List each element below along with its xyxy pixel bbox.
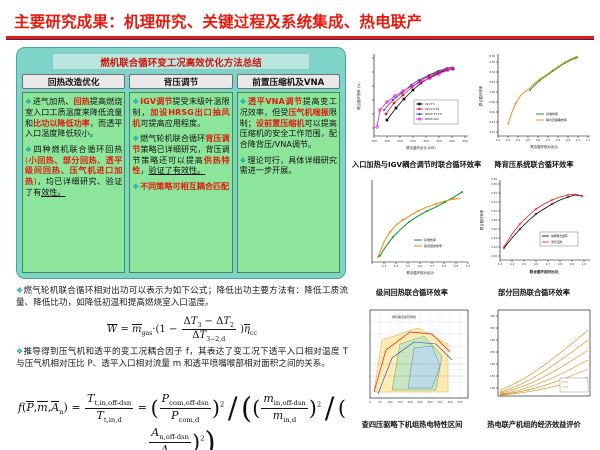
svg-text:250: 250	[410, 139, 416, 143]
diamond-bullet-icon: ❖	[240, 156, 247, 165]
column-header-label: 回热改造优化	[48, 76, 100, 88]
diamond-bullet-icon: ❖	[25, 97, 32, 106]
chart-svg: 0.30.40.5 0.60.70.8 0.91.0 0.400.420.44 …	[474, 174, 594, 286]
bullet-item: ❖透平VNA调节提高变工况效率，但受压气机喘振限制；设前置压缩机可以提高压缩机的…	[240, 96, 337, 150]
column-backpressure-header: 背压调节	[129, 74, 232, 89]
svg-text:0.48: 0.48	[489, 100, 495, 104]
svg-text:100: 100	[388, 400, 393, 404]
svg-text:100: 100	[371, 139, 377, 143]
svg-text:0.52: 0.52	[489, 80, 495, 84]
svg-text:1.0: 1.0	[466, 264, 471, 268]
svg-text:0.8: 0.8	[442, 264, 447, 268]
summary-panel-header: 燃机联合循环变工况高效优化方法总结	[52, 53, 310, 70]
svg-text:0.7: 0.7	[546, 138, 551, 142]
svg-text:1.0: 1.0	[582, 262, 587, 266]
svg-text:200: 200	[490, 362, 495, 366]
svg-text:0.46: 0.46	[489, 110, 495, 114]
svg-text:0.3: 0.3	[382, 264, 387, 268]
svg-text:0.3: 0.3	[498, 262, 503, 266]
svg-text:0.9: 0.9	[566, 138, 571, 142]
formula-coupling-factor: f(P,m,An) = Tt,in,off-dsnTt,in,d = (Pcom…	[16, 391, 348, 450]
svg-text:250: 250	[418, 400, 423, 404]
svg-text:300: 300	[490, 338, 495, 342]
bullet-item: ❖燃气轮机联合循环背压调节策略已详细研究，背压调节策略还可以提高供热特性，验证了…	[132, 133, 229, 176]
svg-text:HEAT-IGV: HEAT-IGV	[425, 117, 440, 121]
svg-text:HEAT-T3-T4: HEAT-T3-T4	[425, 112, 442, 116]
diamond-bullet-icon: ❖	[132, 134, 139, 143]
svg-text:0.9: 0.9	[454, 264, 459, 268]
chart-caption: 级间回热联合循环效率	[352, 288, 472, 298]
column-precompressor-vna-header: 前置压缩机及VNA	[237, 74, 340, 89]
svg-text:基准效率: 基准效率	[546, 111, 558, 116]
svg-text:IGV-T3: IGV-T3	[425, 102, 435, 106]
chart-backpressure-efficiency: 0.20.30.4 0.50.60.7 0.80.91.0 1.1 0.420.…	[474, 48, 594, 170]
svg-text:0.2: 0.2	[496, 138, 501, 142]
svg-text:联合循环相对出功: 联合循环相对出功	[530, 144, 558, 149]
chart-legend: 基准效率 级间回热效率	[414, 237, 442, 248]
svg-text:300: 300	[428, 400, 433, 404]
svg-text:0.6: 0.6	[534, 262, 539, 266]
svg-text:0.52: 0.52	[491, 200, 497, 204]
chart-legend: 常规联合循环 部分回热	[540, 232, 578, 246]
svg-text:级间回热效率: 级间回热效率	[424, 243, 442, 248]
column-backpressure-body: ❖IGV调节提受末级叶温限制，加设HRSG出口抽风机可提高应用程度。 ❖燃气轮机…	[129, 92, 232, 273]
chart-caption: 部分回热联合循环效率	[474, 288, 594, 298]
chart-legend	[560, 378, 588, 392]
svg-text:0.8: 0.8	[558, 262, 563, 266]
svg-text:200: 200	[397, 139, 403, 143]
svg-text:0.8: 0.8	[556, 138, 561, 142]
svg-text:200: 200	[408, 400, 413, 404]
svg-text:350: 350	[438, 400, 443, 404]
title-divider-secondary	[6, 39, 594, 40]
svg-text:燃机联合循环供热: 燃机联合循环供热	[392, 314, 416, 319]
svg-text:联合循环相对出功: 联合循环相对出功	[406, 270, 434, 275]
diamond-bullet-icon: ❖	[132, 182, 139, 191]
svg-text:0.56: 0.56	[489, 60, 495, 64]
svg-text:0.44: 0.44	[491, 236, 497, 240]
svg-text:0.56: 0.56	[491, 182, 497, 186]
column-recuperation-header: 回热改造优化	[22, 74, 125, 89]
svg-text:1.1: 1.1	[586, 138, 591, 142]
diamond-bullet-icon: ❖	[132, 97, 139, 106]
bullet-item: ❖进气加热、回热提高燃烧室入口工质温度来降低流量和比功以降低功率，而透平入口温度…	[25, 96, 122, 139]
column-recuperation-body: ❖进气加热、回热提高燃烧室入口工质温度来降低流量和比功以降低功率，而透平入口温度…	[22, 92, 125, 273]
svg-text:250: 250	[490, 350, 495, 354]
svg-text:联合循环出功 (kW): 联合循环出功 (kW)	[406, 145, 436, 150]
chart-svg: 0.20.30.4 0.50.60.7 0.80.91.0 1.1 0.420.…	[474, 48, 594, 158]
svg-text:0.54: 0.54	[491, 191, 497, 195]
svg-text:0.3: 0.3	[506, 138, 511, 142]
paragraph-power-output: ❖燃气轮机联合循环相对出功可以表示为如下公式；降低出功主要方法有：降低工质流量、…	[16, 285, 348, 310]
chart-economic-evaluation: 100150200 250300350 400	[474, 304, 594, 430]
paragraph-coupling-factor: ❖推导得到压气机和透平的变工况耦合因子 f，其表达了变工况下透平入口相对温度 T…	[16, 346, 348, 371]
svg-text:0.7: 0.7	[430, 264, 435, 268]
chart-caption: 热电联产机组的经济效益评价	[474, 420, 594, 430]
svg-text:0.9: 0.9	[570, 262, 575, 266]
chart-partial-recuperation: 0.30.40.5 0.60.70.8 0.91.0 0.400.420.44 …	[474, 174, 594, 298]
svg-text:0: 0	[369, 400, 371, 404]
chart-legend: IGV-T3 IGV-T3-T4 HEAT-T3-T4 HEAT-IGV	[414, 100, 458, 124]
bullet-item: ❖理论可行，具体详细研究需进一步开展。	[240, 155, 337, 177]
svg-text:0.58: 0.58	[489, 54, 495, 58]
svg-text:1.0: 1.0	[576, 138, 581, 142]
svg-text:350: 350	[490, 326, 495, 330]
chart-plot-area: 燃机联合循环供热 050100 150200250 300350400 450	[352, 304, 472, 418]
chart-svg: 100150200 250300350 400	[474, 304, 594, 418]
svg-text:联合循环效率: 联合循环效率	[479, 209, 484, 230]
svg-text:0.5: 0.5	[406, 264, 411, 268]
formula-relative-power: W = mgas·(1 − ΔT3 − ΔT2ΔT3−2,d )ηcc	[16, 316, 348, 343]
summary-panel-header-label: 燃机联合循环变工况高效优化方法总结	[100, 55, 262, 69]
svg-text:0.6: 0.6	[536, 138, 541, 142]
svg-text:0.40: 0.40	[491, 254, 497, 258]
paragraph-text: 燃气轮机联合循环相对出功可以表示为如下公式；降低出功主要方法有：降低工质流量、降…	[16, 286, 348, 308]
svg-text:0.6: 0.6	[418, 264, 423, 268]
svg-text:400: 400	[448, 400, 453, 404]
summary-columns: 回热改造优化 ❖进气加热、回热提高燃烧室入口工质温度来降低流量和比功以降低功率，…	[22, 74, 340, 273]
svg-text:0.50: 0.50	[489, 90, 495, 94]
svg-text:0.58: 0.58	[491, 177, 497, 181]
svg-text:0.4: 0.4	[510, 262, 515, 266]
chart-caption: 查四压驱略下机组热电特性区间	[352, 420, 472, 430]
diamond-bullet-icon: ❖	[240, 97, 247, 106]
svg-text:50: 50	[378, 400, 382, 404]
page-title: 主要研究成果：机理研究、关键过程及系统集成、热电联产	[14, 10, 586, 32]
svg-text:150: 150	[398, 400, 403, 404]
svg-text:部分回热: 部分回热	[551, 240, 562, 244]
svg-text:联合循环相对出功: 联合循环相对出功	[530, 269, 559, 274]
charts-grid: 100150200 250300350 400450 联合循环出功 (kW) 联…	[352, 48, 594, 444]
svg-text:0.44: 0.44	[489, 120, 495, 124]
chart-plot-area: 0.20.30.4 0.50.60.7 0.80.91.0 1.1 0.420.…	[474, 48, 594, 158]
svg-text:联合循环效率: 联合循环效率	[478, 85, 483, 106]
column-precompressor-vna: 前置压缩机及VNA ❖透平VNA调节提高变工况效率，但受压气机喘振限制；设前置压…	[237, 74, 340, 273]
svg-text:0.4: 0.4	[516, 138, 521, 142]
svg-text:400: 400	[490, 314, 495, 318]
chart-interstage-recuperation: 0.30.40.5 0.60.70.8 0.91.0 联合循环相对出功	[352, 174, 472, 298]
chart-plot-area: 0.30.40.5 0.60.70.8 0.91.0 0.400.420.44 …	[474, 174, 594, 286]
svg-text:降背压策略效率: 降背压策略效率	[546, 117, 567, 122]
svg-text:100: 100	[490, 386, 495, 390]
svg-text:IGV-T3-T4: IGV-T3-T4	[425, 107, 439, 111]
chart-plot-area: 100150200 250300350 400450 联合循环出功 (kW) 联…	[352, 48, 472, 158]
bullet-item: ❖四种燃机联合循环回热 (小回热、部分回热、透平级间回热、压气机进口加热)，均已…	[25, 144, 122, 198]
summary-panel: 燃机联合循环变工况高效优化方法总结 回热改造优化 ❖进气加热、回热提高燃烧室入口…	[16, 47, 346, 279]
column-recuperation: 回热改造优化 ❖进气加热、回热提高燃烧室入口工质温度来降低流量和比功以降低功率，…	[22, 74, 125, 273]
chart-svg: 100150200 250300350 400450 联合循环出功 (kW) 联…	[352, 48, 472, 158]
svg-text:150: 150	[490, 374, 495, 378]
column-header-label: 背压调节	[164, 76, 198, 88]
svg-text:0.42: 0.42	[489, 130, 495, 134]
svg-text:450: 450	[458, 400, 463, 404]
diamond-bullet-icon: ❖	[25, 145, 33, 154]
svg-text:350: 350	[436, 139, 442, 143]
svg-text:0.42: 0.42	[491, 245, 497, 249]
chart-heat-power-region: 燃机联合循环供热 050100 150200250 300350400 450 …	[352, 304, 472, 430]
svg-text:0.48: 0.48	[491, 218, 497, 222]
paragraph-text: 推导得到压气机和透平的变工况耦合因子 f，其表达了变工况下透平入口相对温度 T …	[16, 347, 348, 369]
chart-svg: 0.30.40.5 0.60.70.8 0.91.0 联合循环相对出功	[352, 174, 472, 286]
svg-text:150: 150	[384, 139, 390, 143]
chart-caption: 降背压系统联合循环效率	[474, 160, 594, 170]
svg-text:300: 300	[423, 139, 429, 143]
chart-inlet-heating-igv: 100150200 250300350 400450 联合循环出功 (kW) 联…	[352, 48, 472, 170]
svg-text:450: 450	[462, 139, 468, 143]
svg-text:0.50: 0.50	[491, 209, 497, 213]
svg-text:常规联合循环: 常规联合循环	[551, 234, 568, 238]
svg-text:0.7: 0.7	[546, 262, 551, 266]
chart-caption: 入口加热与IGV耦合调节时联合循环效率	[352, 160, 472, 170]
chart-plot-area: 100150200 250300350 400	[474, 304, 594, 418]
svg-text:0.4: 0.4	[394, 264, 399, 268]
svg-text:基准效率: 基准效率	[424, 237, 436, 242]
column-precompressor-vna-body: ❖透平VNA调节提高变工况效率，但受压气机喘振限制；设前置压缩机可以提高压缩机的…	[237, 92, 340, 273]
chart-svg: 燃机联合循环供热 050100 150200250 300350400 450	[352, 304, 472, 418]
slide-root: 主要研究成果：机理研究、关键过程及系统集成、热电联产 燃机联合循环变工况高效优化…	[0, 0, 600, 450]
svg-text:0.54: 0.54	[489, 70, 495, 74]
svg-text:联合循环效率 (%): 联合循环效率 (%)	[356, 82, 361, 110]
svg-text:0.5: 0.5	[526, 138, 531, 142]
column-backpressure: 背压调节 ❖IGV调节提受末级叶温限制，加设HRSG出口抽风机可提高应用程度。 …	[129, 74, 232, 273]
svg-text:0.46: 0.46	[491, 227, 497, 231]
bullet-item: ❖不同策略可相互耦合匹配	[132, 181, 229, 192]
bullet-item: ❖IGV调节提受末级叶温限制，加设HRSG出口抽风机可提高应用程度。	[132, 96, 229, 128]
column-header-label: 前置压缩机及VNA	[252, 76, 324, 88]
chart-legend: 基准效率 降背压策略效率	[536, 111, 567, 122]
svg-text:0.5: 0.5	[522, 262, 527, 266]
svg-text:400: 400	[449, 139, 455, 143]
chart-plot-area: 0.30.40.5 0.60.70.8 0.91.0 联合循环相对出功	[352, 174, 472, 286]
